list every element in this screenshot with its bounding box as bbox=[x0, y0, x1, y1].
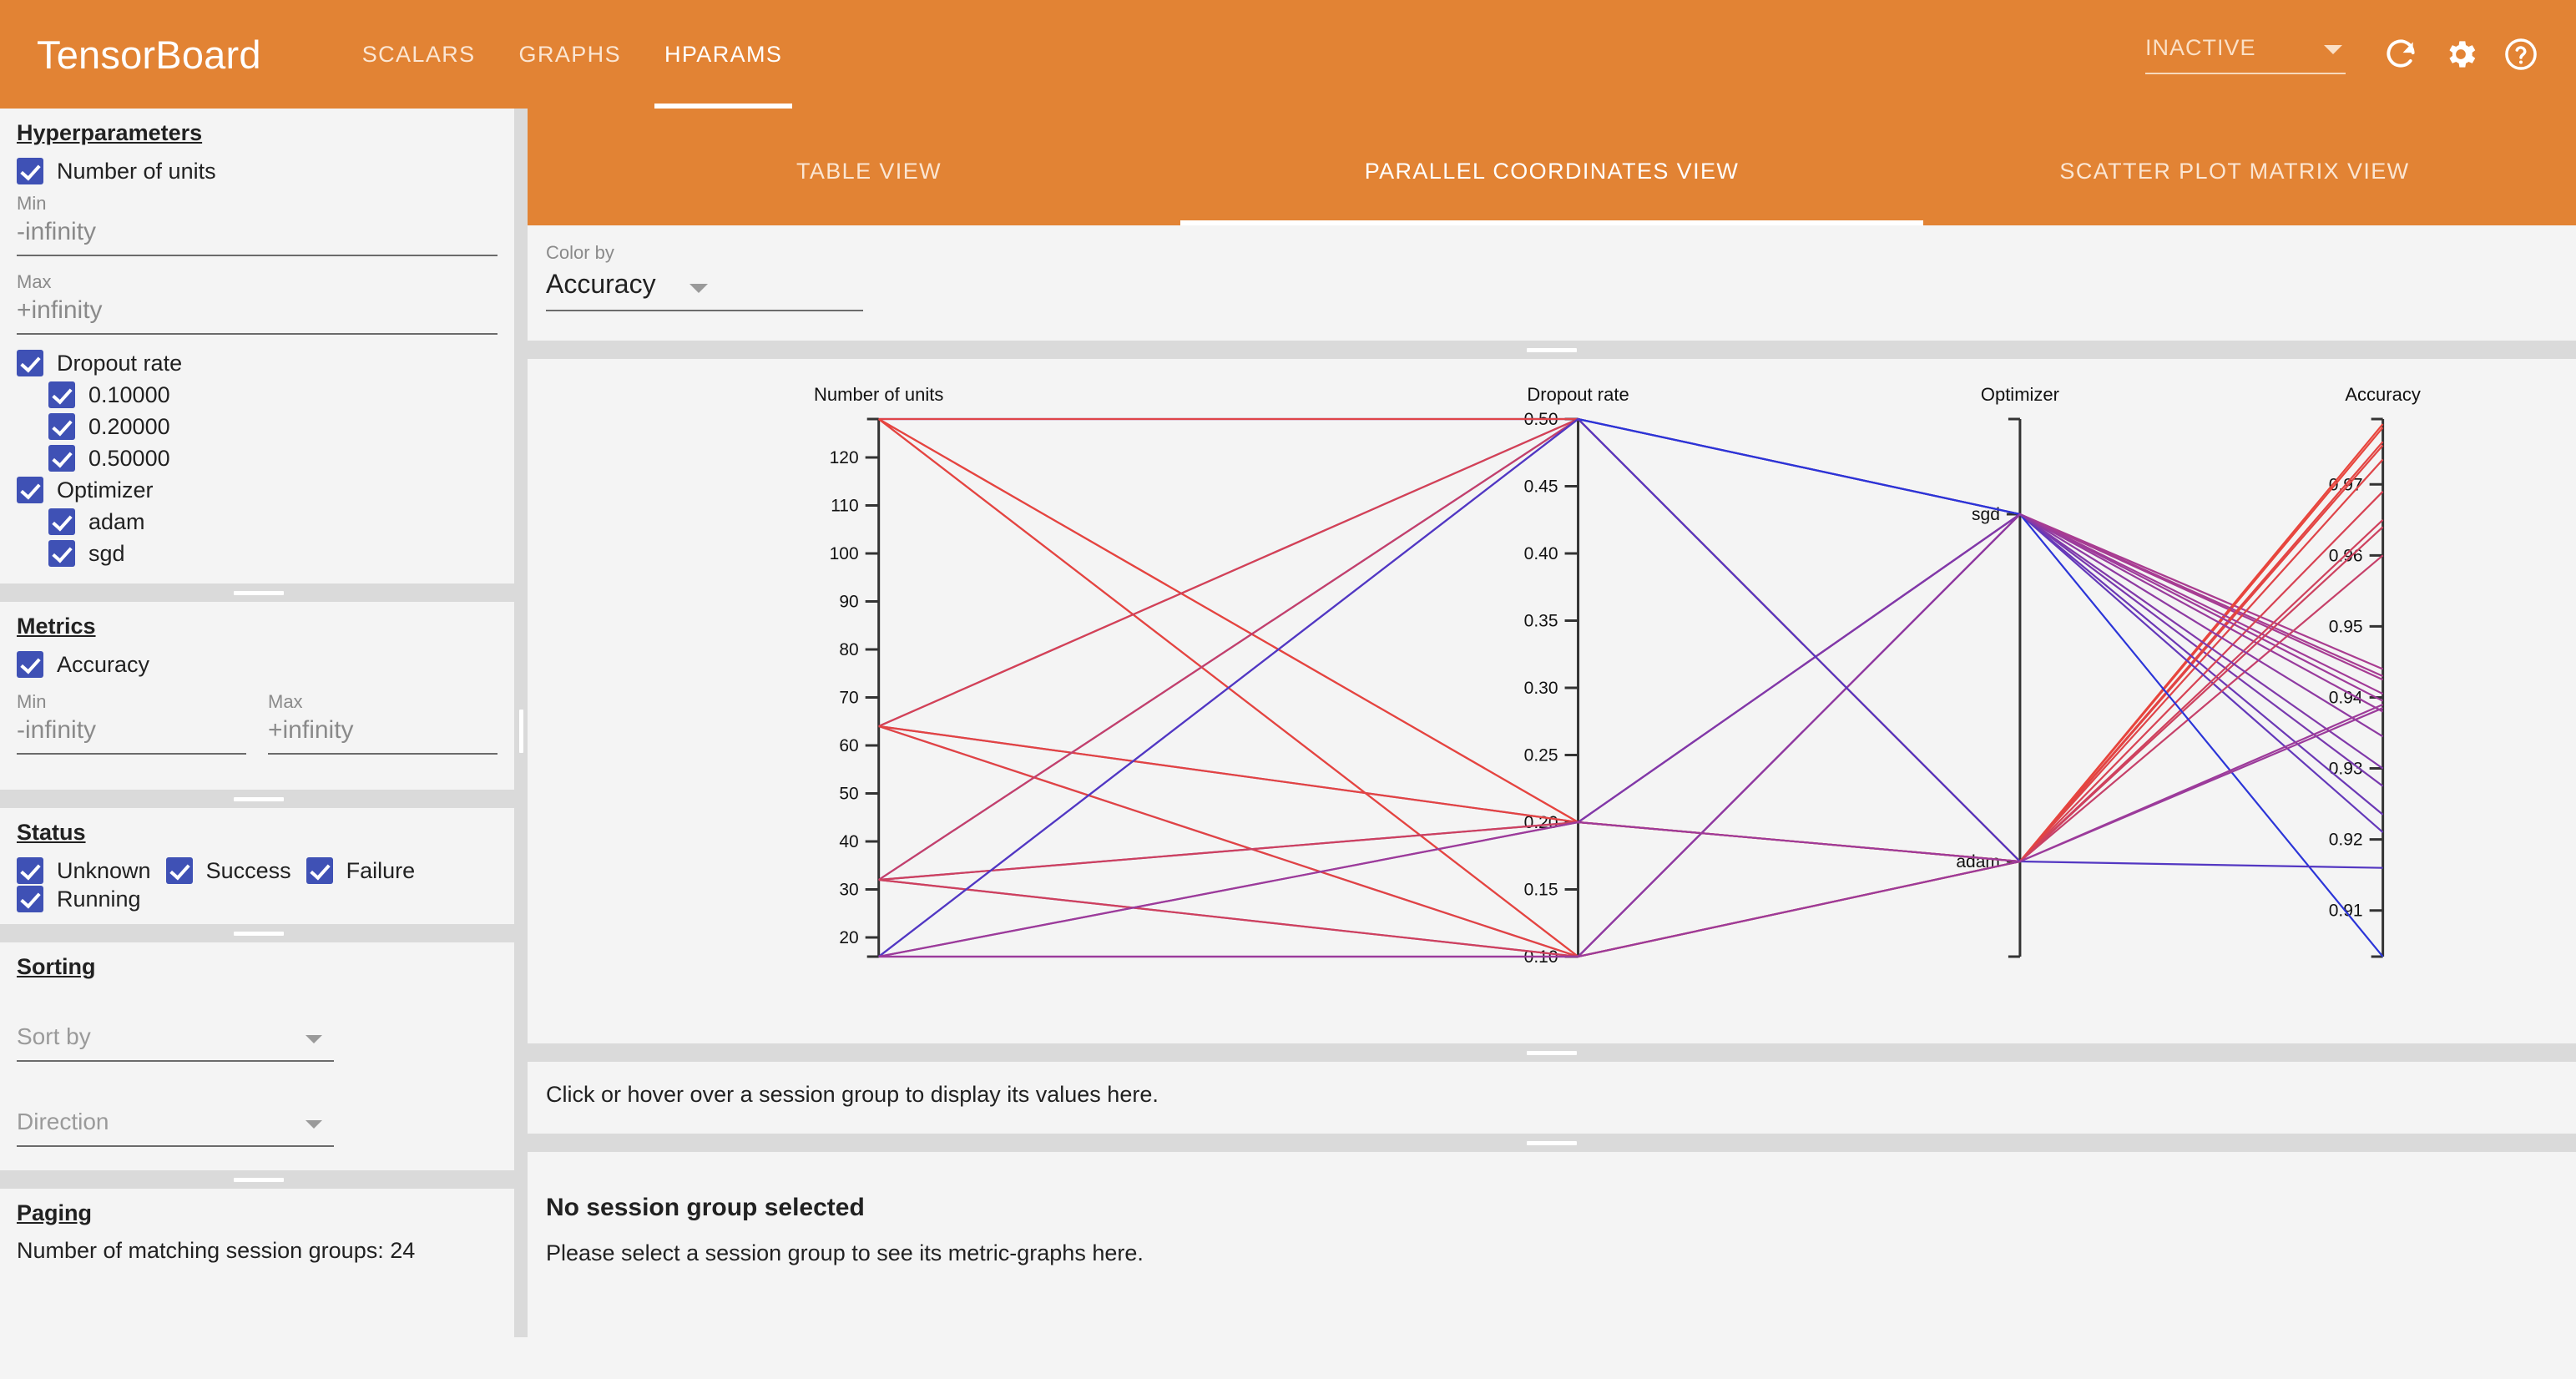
units-min-label: Min bbox=[17, 193, 498, 215]
svg-text:20: 20 bbox=[839, 928, 858, 947]
accuracy-min-input[interactable]: -infinity bbox=[17, 716, 246, 755]
color-by-select[interactable]: Color by Accuracy bbox=[546, 242, 863, 311]
svg-text:0.45: 0.45 bbox=[1524, 477, 1558, 497]
dropout-option-row[interactable]: 0.10000 bbox=[48, 381, 498, 408]
units-max-label: Max bbox=[17, 271, 498, 293]
optimizer-option-row[interactable]: adam bbox=[48, 508, 498, 535]
hparam-dropout-rate-row[interactable]: Dropout rate bbox=[17, 350, 498, 376]
checkbox-number-of-units[interactable] bbox=[17, 158, 43, 184]
left-sidebar: Hyperparameters Number of units Min -inf… bbox=[0, 109, 514, 1337]
chart-panel-resize-divider[interactable] bbox=[528, 341, 2576, 359]
checkbox-optimizer-adam[interactable] bbox=[48, 508, 75, 535]
status-heading: Status bbox=[17, 808, 86, 852]
svg-text:0.35: 0.35 bbox=[1524, 612, 1558, 631]
optimizer-option-label: sgd bbox=[88, 541, 125, 567]
svg-text:0.93: 0.93 bbox=[2329, 760, 2363, 779]
svg-text:80: 80 bbox=[839, 640, 858, 659]
svg-text:110: 110 bbox=[831, 497, 858, 516]
hparam-optimizer-label: Optimizer bbox=[57, 477, 154, 503]
svg-text:Number of units: Number of units bbox=[814, 384, 943, 405]
svg-text:Optimizer: Optimizer bbox=[1981, 384, 2059, 405]
accuracy-min-field[interactable]: Min -infinity bbox=[17, 691, 246, 755]
accuracy-min-label: Min bbox=[17, 691, 246, 713]
svg-text:90: 90 bbox=[839, 593, 858, 612]
checkbox-dropout-0-2[interactable] bbox=[48, 413, 75, 440]
color-by-bar: Color by Accuracy bbox=[528, 225, 2576, 341]
app-logo-title: TensorBoard bbox=[37, 32, 261, 78]
status-unknown-row[interactable]: Unknown bbox=[17, 857, 151, 884]
metrics-section: Metrics Accuracy Min -infinity Max +infi… bbox=[0, 602, 514, 790]
checkbox-status-success[interactable] bbox=[166, 857, 193, 884]
run-status-value: INACTIVE bbox=[2145, 35, 2256, 61]
values-panel-resize-divider[interactable] bbox=[528, 1043, 2576, 1062]
units-min-field[interactable]: Min -infinity bbox=[17, 193, 498, 256]
color-by-label: Color by bbox=[546, 242, 863, 264]
checkbox-status-unknown[interactable] bbox=[17, 857, 43, 884]
chevron-down-icon bbox=[689, 284, 708, 293]
svg-text:0.30: 0.30 bbox=[1524, 679, 1558, 698]
refresh-icon[interactable] bbox=[2371, 24, 2431, 84]
optimizer-option-row[interactable]: sgd bbox=[48, 540, 498, 567]
metrics-heading: Metrics bbox=[17, 602, 96, 646]
hparam-number-of-units-row[interactable]: Number of units bbox=[17, 158, 498, 184]
no-session-group-body: Please select a session group to see its… bbox=[546, 1240, 1144, 1266]
dropout-option-row[interactable]: 0.20000 bbox=[48, 413, 498, 440]
units-min-input[interactable]: -infinity bbox=[17, 218, 498, 256]
svg-text:40: 40 bbox=[839, 832, 858, 851]
checkbox-status-failure[interactable] bbox=[306, 857, 333, 884]
accuracy-max-label: Max bbox=[268, 691, 498, 713]
top-nav: SCALARS GRAPHS HPARAMS bbox=[341, 0, 805, 109]
svg-text:0.95: 0.95 bbox=[2329, 617, 2363, 636]
metric-graphs-panel: No session group selected Please select … bbox=[528, 1152, 2576, 1379]
svg-text:0.92: 0.92 bbox=[2329, 831, 2363, 850]
matching-session-groups-count: Number of matching session groups: 24 bbox=[17, 1233, 498, 1280]
svg-text:70: 70 bbox=[839, 689, 858, 708]
paging-section: Paging Number of matching session groups… bbox=[0, 1189, 514, 1280]
svg-text:30: 30 bbox=[839, 881, 858, 900]
svg-text:sgd: sgd bbox=[1972, 505, 2000, 524]
hyperparameters-heading: Hyperparameters bbox=[17, 109, 202, 153]
status-label: Failure bbox=[346, 858, 416, 884]
sidebar-resize-divider[interactable] bbox=[0, 924, 514, 942]
checkbox-optimizer-sgd[interactable] bbox=[48, 540, 75, 567]
svg-text:adam: adam bbox=[1956, 852, 2000, 871]
dropout-option-row[interactable]: 0.50000 bbox=[48, 445, 498, 472]
status-failure-row[interactable]: Failure bbox=[306, 857, 416, 884]
dropout-option-label: 0.20000 bbox=[88, 414, 170, 440]
run-status-select[interactable]: INACTIVE bbox=[2145, 35, 2346, 74]
metric-panel-resize-divider[interactable] bbox=[528, 1134, 2576, 1152]
status-section: Status Unknown Success Failure Running bbox=[0, 808, 514, 924]
checkbox-dropout-0-5[interactable] bbox=[48, 445, 75, 472]
dropout-option-label: 0.50000 bbox=[88, 446, 170, 472]
metric-accuracy-row[interactable]: Accuracy bbox=[17, 651, 498, 678]
svg-text:60: 60 bbox=[839, 736, 858, 755]
checkbox-optimizer[interactable] bbox=[17, 477, 43, 503]
parallel-coordinates-chart[interactable]: Number of units2030405060708090100110120… bbox=[528, 359, 2576, 1043]
direction-select[interactable]: Direction bbox=[17, 1109, 334, 1147]
sorting-heading: Sorting bbox=[17, 942, 96, 987]
svg-text:0.40: 0.40 bbox=[1524, 544, 1558, 563]
hparam-dropout-rate-label: Dropout rate bbox=[57, 351, 182, 376]
svg-text:0.15: 0.15 bbox=[1524, 881, 1558, 900]
svg-text:50: 50 bbox=[839, 785, 858, 804]
sidebar-resize-divider[interactable] bbox=[0, 1170, 514, 1189]
units-max-field[interactable]: Max +infinity bbox=[17, 271, 498, 335]
accuracy-range-fields: Min -infinity Max +infinity bbox=[17, 683, 498, 770]
top-app-bar: TensorBoard SCALARS GRAPHS HPARAMS INACT… bbox=[0, 0, 2576, 109]
metric-accuracy-label: Accuracy bbox=[57, 652, 149, 678]
chevron-down-icon bbox=[306, 1035, 322, 1043]
accuracy-max-field[interactable]: Max +infinity bbox=[268, 691, 498, 755]
gear-icon[interactable] bbox=[2431, 24, 2491, 84]
checkbox-dropout-0-1[interactable] bbox=[48, 381, 75, 408]
chevron-down-icon bbox=[306, 1120, 322, 1129]
status-label: Unknown bbox=[57, 858, 151, 884]
sort-by-select[interactable]: Sort by bbox=[17, 1023, 334, 1062]
nav-tab-scalars[interactable]: SCALARS bbox=[341, 0, 498, 109]
hparam-optimizer-row[interactable]: Optimizer bbox=[17, 477, 498, 503]
status-label: Running bbox=[57, 886, 141, 912]
status-label: Success bbox=[206, 858, 291, 884]
hyperparameters-section: Hyperparameters Number of units Min -inf… bbox=[0, 109, 514, 583]
svg-text:0.25: 0.25 bbox=[1524, 746, 1558, 765]
checkbox-dropout-rate[interactable] bbox=[17, 350, 43, 376]
hparam-number-of-units-label: Number of units bbox=[57, 159, 216, 184]
session-values-panel: Click or hover over a session group to d… bbox=[528, 1062, 2576, 1134]
paging-heading: Paging bbox=[17, 1189, 92, 1233]
session-values-hint: Click or hover over a session group to d… bbox=[546, 1082, 1159, 1108]
tab-table-view[interactable]: TABLE VIEW bbox=[528, 109, 1210, 225]
tab-scatter-plot-matrix-view[interactable]: SCATTER PLOT MATRIX VIEW bbox=[1893, 109, 2576, 225]
sidebar-resize-divider[interactable] bbox=[0, 790, 514, 808]
units-max-input[interactable]: +infinity bbox=[17, 296, 498, 335]
accuracy-max-input[interactable]: +infinity bbox=[268, 716, 498, 755]
svg-text:Accuracy: Accuracy bbox=[2345, 384, 2420, 405]
direction-placeholder: Direction bbox=[17, 1109, 334, 1147]
sort-by-placeholder: Sort by bbox=[17, 1023, 334, 1062]
view-tab-bar: TABLE VIEW PARALLEL COORDINATES VIEW SCA… bbox=[528, 109, 2576, 225]
nav-tab-hparams[interactable]: HPARAMS bbox=[643, 0, 804, 109]
parallel-coordinates-svg[interactable]: Number of units2030405060708090100110120… bbox=[528, 359, 2576, 1043]
help-icon[interactable] bbox=[2491, 24, 2551, 84]
sidebar-width-resizer[interactable] bbox=[514, 109, 528, 1337]
checkbox-status-running[interactable] bbox=[17, 886, 43, 912]
main-content: TABLE VIEW PARALLEL COORDINATES VIEW SCA… bbox=[528, 109, 2576, 1337]
svg-text:120: 120 bbox=[830, 448, 859, 467]
svg-text:100: 100 bbox=[830, 544, 859, 563]
sorting-section: Sorting Sort by Direction bbox=[0, 942, 514, 1147]
svg-text:Dropout rate: Dropout rate bbox=[1527, 384, 1629, 405]
top-bar-actions: INACTIVE bbox=[2145, 0, 2551, 109]
checkbox-metric-accuracy[interactable] bbox=[17, 651, 43, 678]
no-session-group-heading: No session group selected bbox=[546, 1194, 865, 1222]
dropout-option-label: 0.10000 bbox=[88, 382, 170, 408]
optimizer-option-label: adam bbox=[88, 509, 145, 535]
status-success-row[interactable]: Success bbox=[166, 857, 291, 884]
tab-parallel-coordinates-view[interactable]: PARALLEL COORDINATES VIEW bbox=[1210, 109, 1893, 225]
sidebar-resize-divider[interactable] bbox=[0, 583, 514, 602]
chevron-down-icon bbox=[2324, 45, 2342, 54]
status-running-row[interactable]: Running bbox=[17, 886, 514, 912]
nav-tab-graphs[interactable]: GRAPHS bbox=[498, 0, 643, 109]
